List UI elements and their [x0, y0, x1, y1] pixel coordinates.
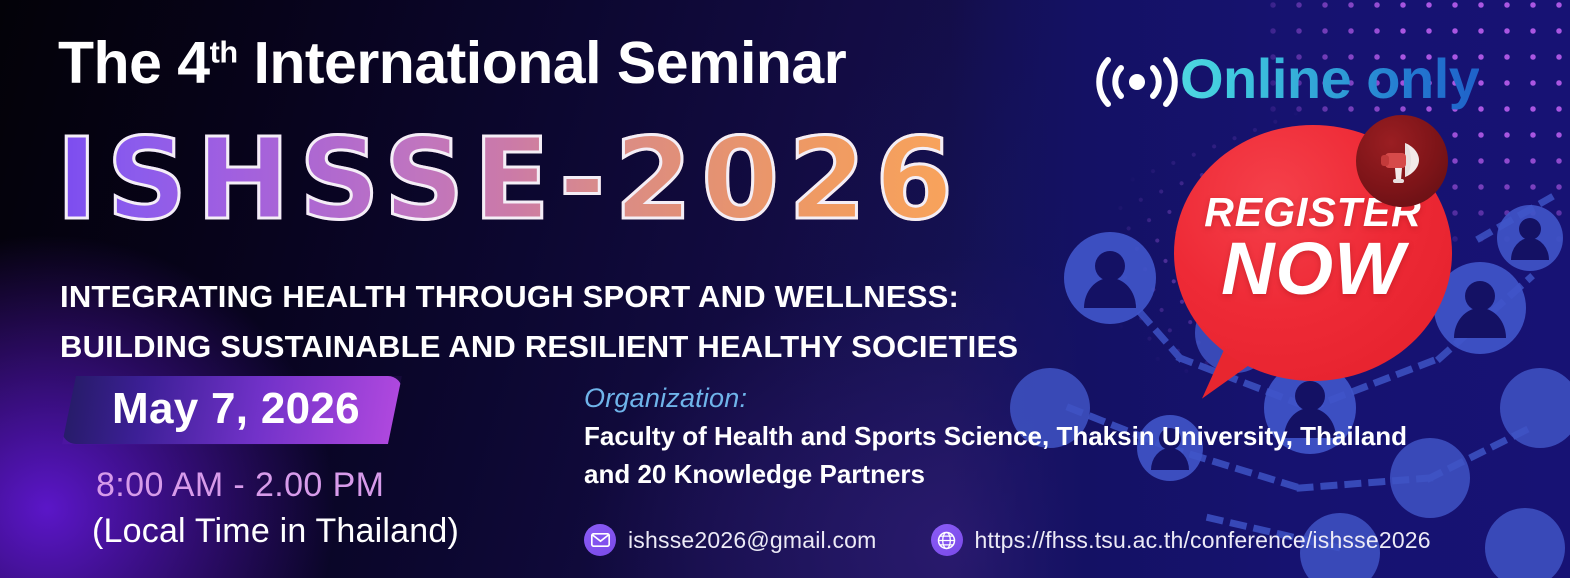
conference-banner: The 4th International Seminar Online onl… — [0, 0, 1570, 578]
event-timezone-note: (Local Time in Thailand) — [92, 512, 459, 551]
envelope-icon — [584, 524, 616, 556]
theme-line-2: BUILDING SUSTAINABLE AND RESILIENT HEALT… — [60, 322, 1018, 372]
seminar-theme: INTEGRATING HEALTH THROUGH SPORT AND WEL… — [60, 272, 1018, 371]
organization-line-2: and 20 Knowledge Partners — [584, 459, 925, 490]
online-only-label: Online only — [1180, 46, 1479, 111]
register-now-badge[interactable]: REGISTER NOW — [1174, 125, 1458, 415]
event-time: 8:00 AM - 2.00 PM — [96, 466, 384, 505]
headline-suffix: International Seminar — [238, 30, 847, 96]
register-line-2: NOW — [1174, 234, 1452, 304]
headline-prefix: The 4 — [58, 30, 210, 96]
organization-label: Organization: — [584, 383, 747, 414]
contact-email[interactable]: ishsse2026@gmail.com — [584, 524, 877, 556]
event-acronym: ISHSSE-2026 — [56, 124, 962, 236]
organization-line-1: Faculty of Health and Sports Science, Th… — [584, 421, 1407, 452]
megaphone-badge — [1356, 115, 1448, 207]
contact-row: ishsse2026@gmail.com https://fhss.tsu.ac… — [584, 524, 1431, 556]
broadcast-icon — [1095, 52, 1179, 112]
register-now-text: REGISTER NOW — [1174, 193, 1452, 303]
email-text: ishsse2026@gmail.com — [628, 527, 877, 554]
contact-website[interactable]: https://fhss.tsu.ac.th/conference/ishsse… — [931, 524, 1431, 556]
megaphone-icon — [1375, 137, 1429, 185]
headline-ordinal: th — [210, 34, 238, 69]
event-date: May 7, 2026 — [112, 386, 360, 432]
theme-line-1: INTEGRATING HEALTH THROUGH SPORT AND WEL… — [60, 272, 1018, 322]
headline: The 4th International Seminar — [58, 34, 846, 93]
event-date-badge: May 7, 2026 — [62, 376, 402, 444]
website-text: https://fhss.tsu.ac.th/conference/ishsse… — [975, 527, 1431, 554]
globe-icon — [931, 524, 963, 556]
